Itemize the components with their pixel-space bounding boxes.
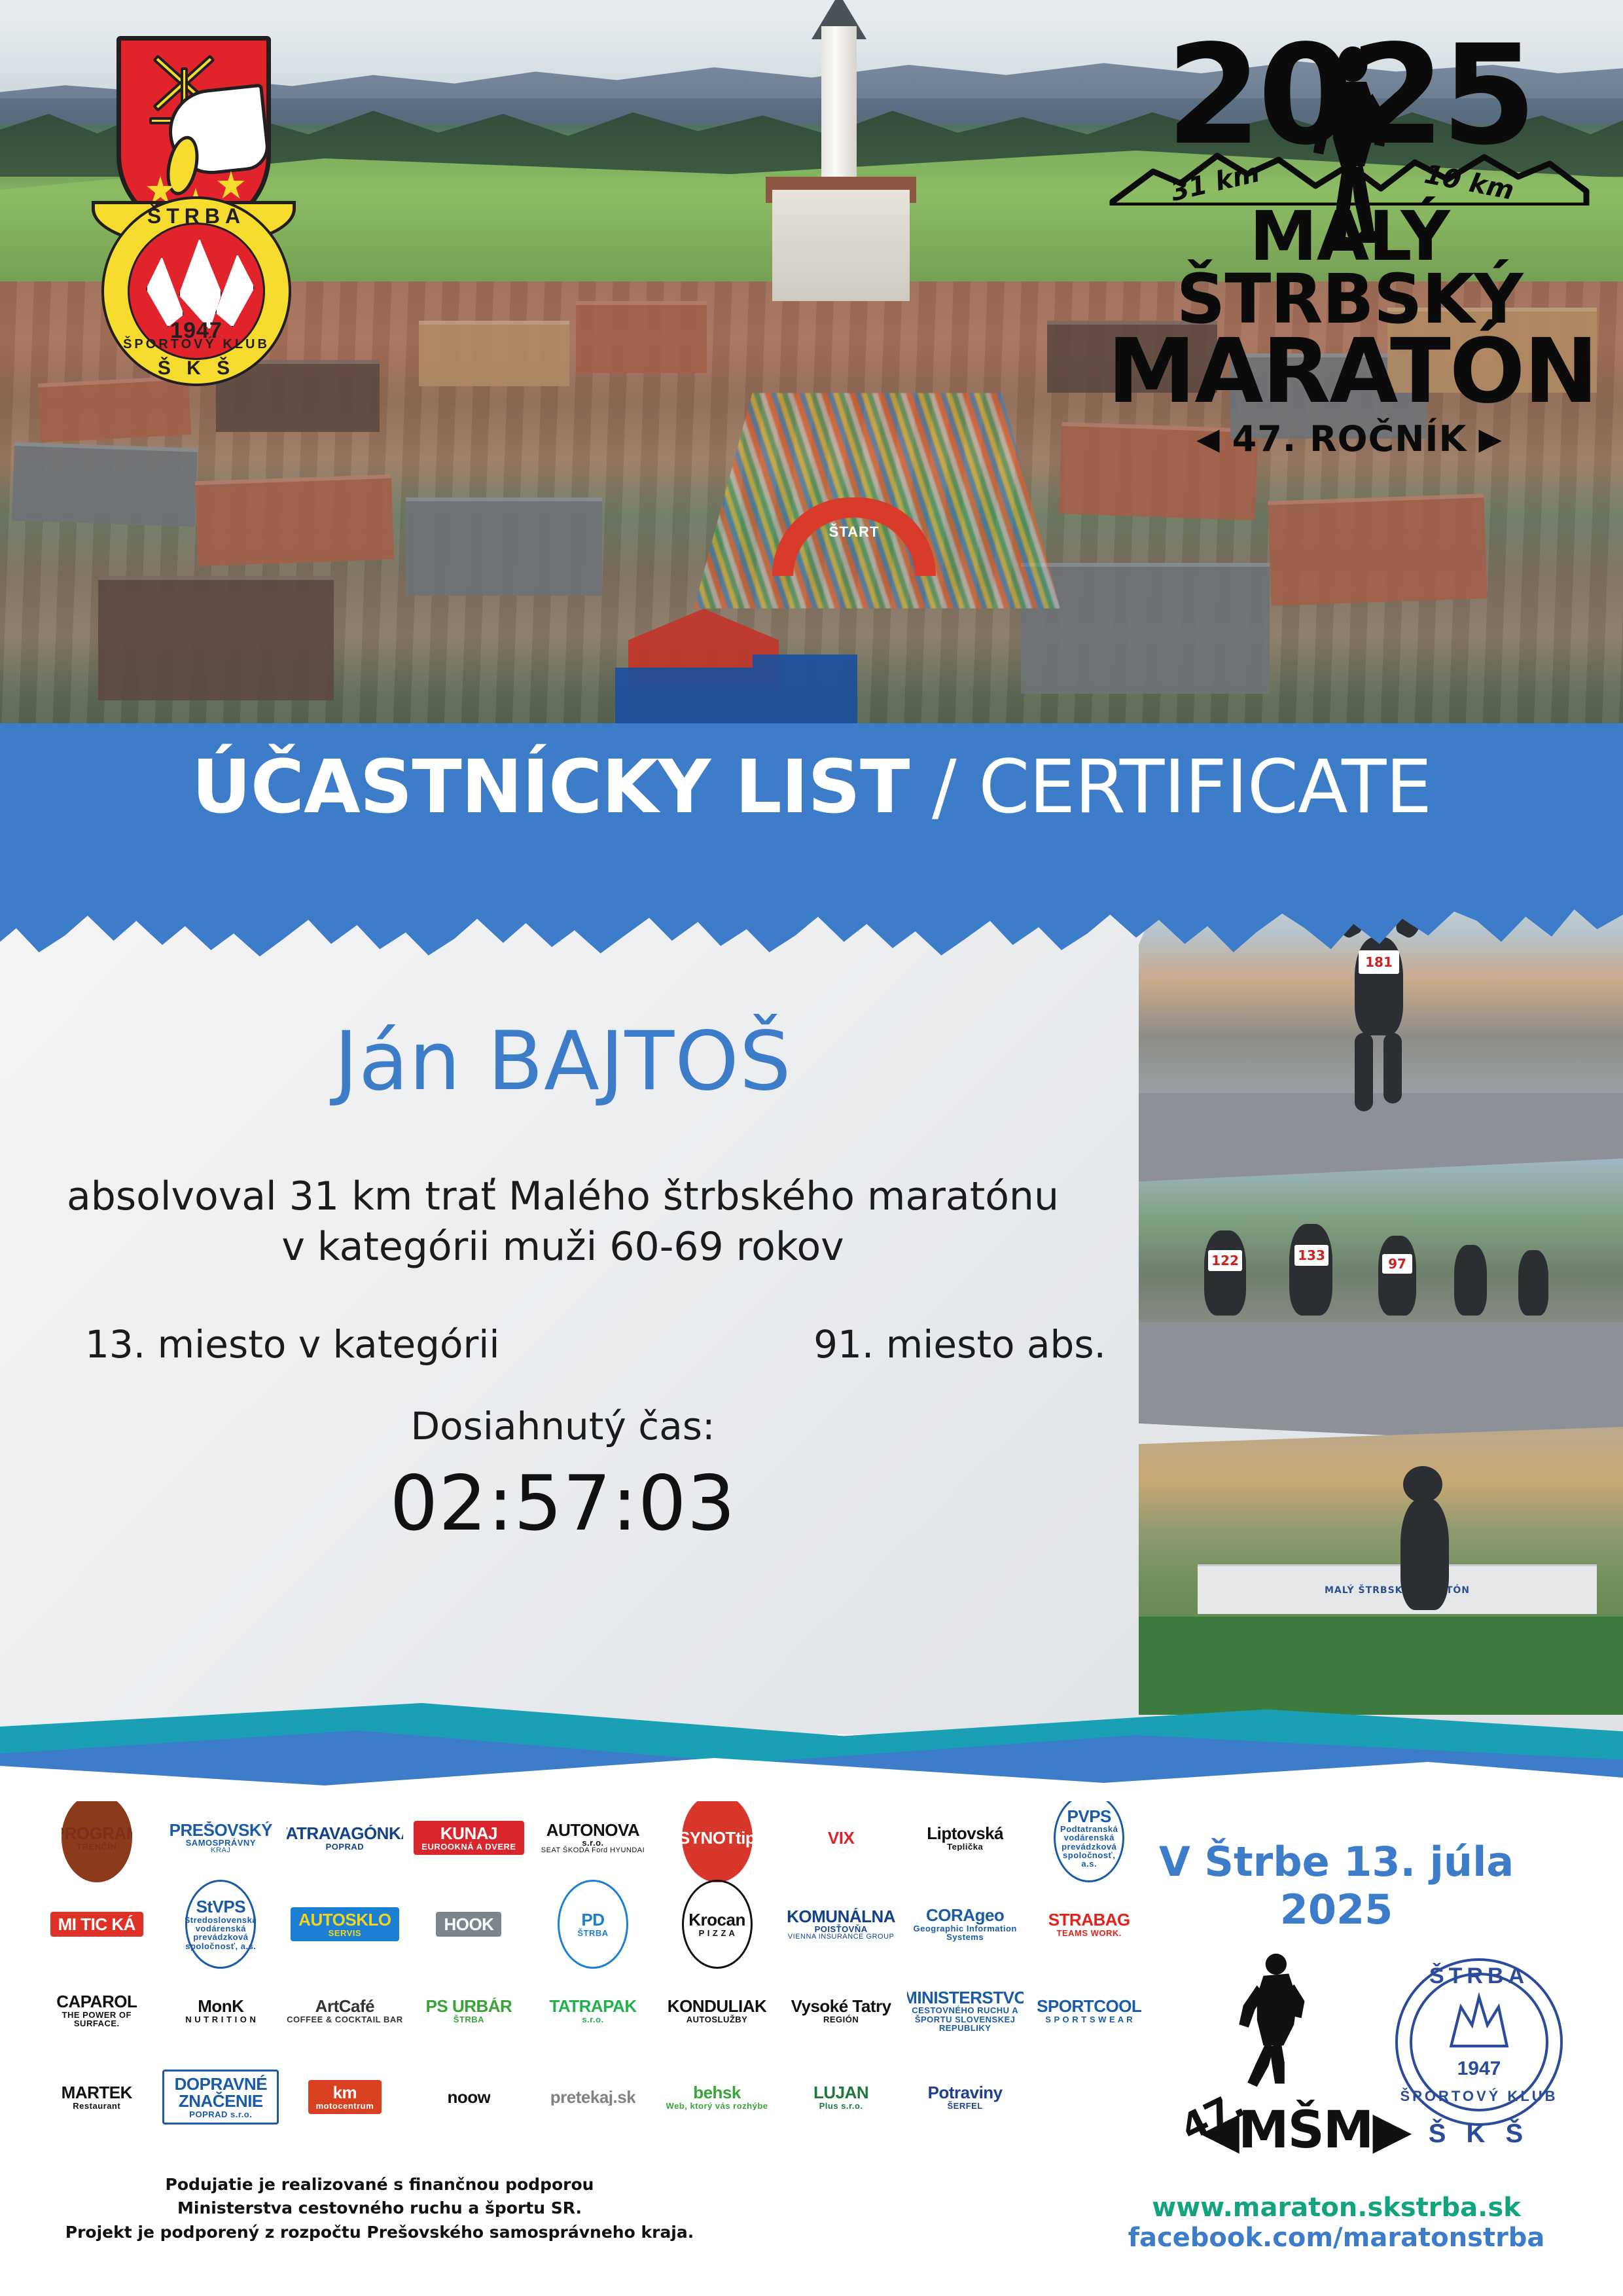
sponsor-mark: behskWeb, ktorý vás rozhýbe (666, 2084, 768, 2110)
sponsor-mark: VIX (828, 1829, 854, 1847)
start-gate-label: ŠTART (818, 524, 890, 541)
sponsor-name: PD (581, 1911, 604, 1929)
sponsor-mark: KONDULIAKAUTOSLUŽBY (668, 1998, 767, 2024)
sponsor-extra: VIENNA INSURANCE GROUP (787, 1933, 895, 1941)
sponsor-logo: KrocanP I Z Z A (682, 1880, 753, 1969)
sponsor-logo: MI TIC KÁ (50, 1912, 143, 1937)
sponsor-logo: MARTEKRestaurant (62, 2084, 132, 2110)
sponsor-tagline: Plus s.r.o. (813, 2102, 868, 2110)
sponsor-mark: SYNOTtip (682, 1793, 753, 1882)
sponsor-tagline: Podtatranská vodárenská prevádzková spol… (1056, 1825, 1122, 1868)
sponsor-name: STRABAG (1048, 1911, 1130, 1929)
arrow-left-icon: ◀ (1196, 423, 1220, 454)
sponsor-name: KONDULIAK (668, 1998, 767, 2015)
sponsor-name: KUNAJ (421, 1825, 516, 1842)
rooftop (419, 321, 569, 386)
time-label: Dosiahnutý čas: (0, 1404, 1126, 1448)
sponsor-logo-grid: PROGRAMTRENČÍNPREŠOVSKÝSAMOSPRÁVNYKRAJTA… (37, 1796, 1149, 2139)
sponsor-mark: MINISTERSTVOCESTOVNÉHO RUCHU A ŠPORTU SL… (907, 1989, 1024, 2032)
participant-name: Ján BAJTOŠ (0, 1014, 1126, 1109)
sponsor-logo: PREŠOVSKÝSAMOSPRÁVNYKRAJ (169, 1821, 272, 1855)
sponsor-name: KOMUNÁLNA (787, 1908, 895, 1926)
sponsor-tagline: REGIÓN (791, 2015, 891, 2024)
runner-body (1289, 1224, 1332, 1316)
photo-collage: 181 122 133 97 MALÝ ŠTRBSKÝ MARATÓN (1139, 877, 1623, 1715)
sponsor-name: MARTEK (62, 2084, 132, 2102)
sponsor-name: Vysoké Tatry (791, 1998, 891, 2015)
contact-links: www.maraton.skstrba.sk facebook.com/mara… (1101, 2193, 1572, 2253)
photo-group-runners: 122 133 97 (1139, 1158, 1623, 1446)
runner-leg (1383, 1033, 1402, 1103)
funding-note-line-3: Projekt je podporený z rozpočtu Prešovsk… (52, 2221, 707, 2244)
rooftop (98, 576, 334, 700)
sponsor-mark: MonKN U T R I T I O N (185, 1998, 256, 2024)
sponsor-tagline: Stredoslovenská vodárenská prevádzková s… (185, 1916, 256, 1950)
sponsor-logo: KOMUNÁLNAPOISŤOVŇAVIENNA INSURANCE GROUP (787, 1908, 895, 1941)
sponsor-name: CORAgeo (907, 1907, 1024, 1924)
sponsor-tagline: Web, ktorý vás rozhýbe (666, 2102, 768, 2110)
rooftop (12, 442, 198, 527)
sponsor-logo: PS URBÁRŠTRBA (426, 1998, 512, 2024)
sponsor-name: HOOK (444, 1916, 493, 1933)
sponsor-mark: LiptovskáTeplička (927, 1825, 1003, 1851)
sponsor-logo: SYNOTtip (682, 1793, 753, 1882)
msm-logo: 47. ◀MŠM▶ (1178, 1944, 1348, 2160)
sponsor-mark: MI TIC KÁ (50, 1912, 143, 1937)
website-link[interactable]: www.maraton.skstrba.sk (1101, 2193, 1572, 2223)
finish-banner: MALÝ ŠTRBSKÝ MARATÓN (1198, 1564, 1597, 1614)
sponsor-extra: SEAT ŠKODA Ford HYUNDAI (541, 1847, 645, 1854)
sponsor-tagline: Teplička (927, 1842, 1003, 1851)
sponsor-name: LUJAN (813, 2084, 868, 2102)
sponsor-mark: KOMUNÁLNAPOISŤOVŇAVIENNA INSURANCE GROUP (787, 1908, 895, 1941)
sponsor-name: PS URBÁR (426, 1998, 512, 2015)
sponsor-mark: noow (448, 2089, 491, 2106)
msm-abbreviation: ◀MŠM▶ (1200, 2101, 1410, 2160)
sponsor-mark: AUTOSKLOSERVIS (291, 1907, 399, 1941)
sponsor-name: AUTONOVA (541, 1821, 645, 1839)
sponsor-logo: pretekaj.sk (550, 2089, 635, 2106)
sponsor-logo: noow (448, 2089, 491, 2106)
rooftop (195, 475, 394, 566)
sponsor-name: Liptovská (927, 1825, 1003, 1842)
sponsor-mark: pretekaj.sk (550, 2089, 635, 2106)
runner-body (1378, 1236, 1416, 1316)
sponsor-logo: DOPRAVNÉ ZNAČENIEPOPRAD s.r.o. (162, 2070, 279, 2125)
sponsor-name: MonK (185, 1998, 256, 2015)
sponsor-name: CAPAROL (39, 1993, 155, 2011)
sponsor-tagline: s.r.o. (549, 2015, 636, 2024)
sponsor-mark: CORAgeoGeographic Information Systems (907, 1907, 1024, 1941)
runner-body (1400, 1499, 1449, 1610)
sponsor-mark: KrocanP I Z Z A (682, 1880, 753, 1969)
sponsor-logo: ArtCaféCOFFEE & COCKTAIL BAR (287, 1998, 403, 2024)
sks-stamp-bottom-label: Š K Š (1381, 2119, 1577, 2149)
sks-stamp-year: 1947 (1381, 2058, 1577, 2080)
sponsor-name: DOPRAVNÉ ZNAČENIE (172, 2075, 269, 2110)
sponsor-logo: TATRAPAKs.r.o. (549, 1998, 636, 2024)
sponsor-logo: VIX (828, 1829, 854, 1847)
sponsor-tagline: SAMOSPRÁVNY (169, 1839, 272, 1847)
sks-mountain-icon (1437, 1982, 1521, 2066)
footer: V Štrbe 13. júla 2025 PROGRAMTRENČÍNPREŠ… (0, 1774, 1623, 2296)
event-edition-row: ◀ 47. ROČNÍK ▶ (1107, 418, 1592, 459)
issue-date: V Štrbe 13. júla 2025 (1101, 1838, 1572, 1933)
sponsor-logo: TATRAVAGÓNKAPOPRAD (287, 1825, 403, 1851)
sponsor-tagline: COFFEE & COCKTAIL BAR (287, 2015, 403, 2024)
sponsor-logo: STRABAGTEAMS WORK. (1048, 1911, 1130, 1937)
sponsor-logo: PROGRAMTRENČÍN (62, 1793, 132, 1882)
sponsor-mark: PDŠTRBA (558, 1880, 628, 1969)
description-line-2: v kategórii muži 60-69 rokov (0, 1222, 1126, 1272)
sponsor-logo: LiptovskáTeplička (927, 1825, 1003, 1851)
placement-row: 13. miesto v kategórii 91. miesto abs. (85, 1322, 1106, 1367)
sponsor-name: km (316, 2084, 374, 2102)
sponsor-name: TATRAPAK (549, 1998, 636, 2015)
sponsor-logo: PVPSPodtatranská vodárenská prevádzková … (1054, 1793, 1124, 1882)
sponsor-mark: PROGRAMTRENČÍN (62, 1793, 132, 1882)
runner-body (1204, 1230, 1246, 1316)
sks-logo-middle-label: ŠPORTOVÝ KLUB (104, 337, 289, 352)
sponsor-mark: Vysoké TatryREGIÓN (791, 1998, 891, 2024)
sponsor-tagline: Geographic Information Systems (907, 1924, 1024, 1942)
sks-club-logo: ŠTRBA 1947 ŠPORTOVÝ KLUB Š K Š (101, 196, 291, 386)
sks-stamp-middle-label: ŠPORTOVÝ KLUB (1381, 2088, 1577, 2105)
sponsor-tagline: THE POWER OF SURFACE. (39, 2011, 155, 2028)
sponsor-name: pretekaj.sk (550, 2089, 635, 2106)
sponsor-mark: PREŠOVSKÝSAMOSPRÁVNYKRAJ (169, 1821, 272, 1855)
sponsor-logo: kmmotocentrum (308, 2080, 382, 2114)
sponsor-tagline: motocentrum (316, 2102, 374, 2110)
runner-body (1518, 1250, 1548, 1316)
event-title-block: 2025 31 km 10 km MALÝ ŠTRBSKÝ MARATÓN ◀ (1107, 39, 1592, 609)
sponsor-mark: KUNAJEUROOKNÁ A DVERE (414, 1821, 524, 1855)
sponsor-mark: TATRAVAGÓNKAPOPRAD (287, 1825, 403, 1851)
sponsor-tagline: CESTOVNÉHO RUCHU A ŠPORTU SLOVENSKEJ REP… (907, 2006, 1024, 2032)
sponsor-name: behsk (666, 2084, 768, 2102)
sponsor-logo: KONDULIAKAUTOSLUŽBY (668, 1998, 767, 2024)
sks-stamp-logo: ŠTRBA 1947 ŠPORTOVÝ KLUB Š K Š (1381, 1941, 1577, 2157)
certificate-title-separator: / (909, 745, 978, 830)
sponsor-name: TATRAVAGÓNKA (287, 1825, 403, 1842)
rooftop (38, 376, 191, 442)
funding-note-line-1: Podujatie je realizované s finančnou pod… (52, 2173, 707, 2197)
race-bib: 133 (1294, 1245, 1329, 1266)
church-body (772, 190, 910, 301)
event-title-line2: MARATÓN (1107, 331, 1592, 413)
sponsor-logo: SPORTCOOLS P O R T S W E A R (1037, 1998, 1141, 2024)
msm-runner-icon (1204, 1944, 1342, 2094)
sks-logo-bottom-label: Š K Š (104, 357, 289, 380)
sponsor-logo: StVPSStredoslovenská vodárenská prevádzk… (185, 1880, 256, 1969)
runner-head (1403, 1466, 1442, 1503)
sponsor-logo: MonKN U T R I T I O N (185, 1998, 256, 2024)
race-bib: 97 (1382, 1254, 1412, 1274)
sponsor-tagline: S P O R T S W E A R (1037, 2015, 1141, 2024)
sponsor-mark: STRABAGTEAMS WORK. (1048, 1911, 1130, 1937)
race-bib: 122 (1208, 1250, 1242, 1271)
sponsor-tagline: EUROOKNÁ A DVERE (421, 1842, 516, 1851)
sponsor-logo: PDŠTRBA (558, 1880, 628, 1969)
sponsor-name: StVPS (196, 1898, 246, 1916)
sponsor-name: Krocan (688, 1911, 745, 1929)
sponsor-logo: behskWeb, ktorý vás rozhýbe (666, 2084, 768, 2110)
sponsor-mark: LUJANPlus s.r.o. (813, 2084, 868, 2110)
sponsor-tagline: ŠTRBA (577, 1929, 608, 1937)
sponsor-mark: SPORTCOOLS P O R T S W E A R (1037, 1998, 1141, 2024)
sponsor-mark: TATRAPAKs.r.o. (549, 1998, 636, 2024)
wave-divider (0, 1695, 1623, 1800)
description-line-1: absolvoval 31 km trať Malého štrbského m… (0, 1172, 1126, 1222)
certificate-title-sk: ÚČASTNÍCKY LIST (192, 745, 909, 830)
rooftop (576, 301, 707, 373)
photo-finish-line: MALÝ ŠTRBSKÝ MARATÓN (1139, 1427, 1623, 1715)
finish-time: 02:57:03 (0, 1460, 1126, 1548)
sponsor-logo: LUJANPlus s.r.o. (813, 2084, 868, 2110)
sponsor-mark: PotravinyŠERFEL (928, 2084, 1003, 2110)
sponsor-logo: CORAgeoGeographic Information Systems (907, 1907, 1024, 1941)
sponsor-logo: KUNAJEUROOKNÁ A DVERE (414, 1821, 524, 1855)
place-absolute: 91. miesto abs. (813, 1322, 1106, 1367)
sponsor-logo: CAPAROLTHE POWER OF SURFACE. (39, 1993, 155, 2028)
sponsor-mark: ArtCaféCOFFEE & COCKTAIL BAR (287, 1998, 403, 2024)
sponsor-tagline: SERVIS (298, 1929, 391, 1937)
sks-stamp-top-label: ŠTRBA (1381, 1964, 1577, 1989)
sponsor-mark: PS URBÁRŠTRBA (426, 1998, 512, 2024)
sponsor-name: VIX (828, 1829, 854, 1847)
sponsor-logo: Vysoké TatryREGIÓN (791, 1998, 891, 2024)
sponsor-tagline: POISŤOVŇA (787, 1925, 895, 1933)
sponsor-tagline: ŠERFEL (928, 2102, 1003, 2110)
sponsor-tagline: N U T R I T I O N (185, 2015, 256, 2024)
sponsor-name: PREŠOVSKÝ (169, 1821, 272, 1839)
sponsor-name: ArtCafé (287, 1998, 403, 2015)
sponsor-tagline: Restaurant (62, 2102, 132, 2110)
sponsor-mark: StVPSStredoslovenská vodárenská prevádzk… (185, 1880, 256, 1969)
event-edition-label: 47. ROČNÍK (1232, 418, 1467, 459)
sponsor-logo: PotravinyŠERFEL (928, 2084, 1003, 2110)
sponsor-name: AUTOSKLO (298, 1911, 391, 1929)
sponsor-mark: HOOK (436, 1912, 501, 1937)
sponsor-mark: CAPAROLTHE POWER OF SURFACE. (39, 1993, 155, 2028)
sponsor-logo: AUTONOVAs.r.o.SEAT ŠKODA Ford HYUNDAI (541, 1821, 645, 1855)
place-category: 13. miesto v kategórii (85, 1322, 500, 1367)
road-surface (1139, 1322, 1623, 1446)
sponsor-mark: AUTONOVAs.r.o.SEAT ŠKODA Ford HYUNDAI (541, 1821, 645, 1855)
sponsor-name: PROGRAM (62, 1825, 132, 1842)
sponsor-mark: MARTEKRestaurant (62, 2084, 132, 2110)
sponsor-extra: KRAJ (169, 1847, 272, 1854)
funding-note-line-2: Ministerstva cestovného ruchu a športu S… (52, 2197, 707, 2220)
sponsor-mark: DOPRAVNÉ ZNAČENIEPOPRAD s.r.o. (162, 2070, 279, 2125)
sponsor-tagline: ŠTRBA (426, 2015, 512, 2024)
runner-body (1454, 1245, 1487, 1316)
certificate-title-band: ÚČASTNÍCKY LIST / CERTIFICATE (0, 723, 1623, 906)
sponsor-tagline: AUTOSLUŽBY (668, 2015, 767, 2024)
sponsor-mark: PVPSPodtatranská vodárenská prevádzková … (1054, 1793, 1124, 1882)
sponsor-logo: HOOK (436, 1912, 501, 1937)
certificate-description: absolvoval 31 km trať Malého štrbského m… (0, 1172, 1126, 1272)
sponsor-name: PVPS (1067, 1808, 1111, 1825)
sponsor-logo: MINISTERSTVOCESTOVNÉHO RUCHU A ŠPORTU SL… (907, 1989, 1024, 2032)
race-bib: 181 (1359, 950, 1399, 974)
sponsor-name: MI TIC KÁ (58, 1916, 135, 1933)
sponsor-name: Potraviny (928, 2084, 1003, 2102)
facebook-link[interactable]: facebook.com/maratonstrba (1101, 2223, 1572, 2253)
hero-photo-banner: ŠTART ŠTRBA ŠTRBA 1947 ŠPORTOVÝ KLUB Š K… (0, 0, 1623, 772)
sponsor-name: SYNOTtip (682, 1829, 753, 1847)
sponsor-tagline: POPRAD s.r.o. (172, 2110, 269, 2119)
sponsor-tagline: P I Z Z A (699, 1929, 736, 1937)
arrow-right-icon: ▶ (1478, 423, 1502, 454)
rooftop (406, 497, 602, 596)
runner-silhouette-icon (1304, 45, 1402, 260)
sponsor-name: noow (448, 2089, 491, 2106)
event-tent (753, 655, 857, 726)
sponsor-mark: kmmotocentrum (308, 2080, 382, 2114)
certificate-title: ÚČASTNÍCKY LIST / CERTIFICATE (0, 751, 1623, 824)
sponsor-name: MINISTERSTVO (907, 1989, 1024, 2007)
sponsor-tagline: TEAMS WORK. (1048, 1929, 1130, 1937)
sponsor-tagline: TRENČÍN (77, 1842, 116, 1851)
runner-leg (1355, 1033, 1373, 1111)
sponsor-name: SPORTCOOL (1037, 1998, 1141, 2015)
certificate-title-en: CERTIFICATE (978, 745, 1431, 830)
sponsor-tagline: POPRAD (287, 1842, 403, 1851)
sponsor-logo: AUTOSKLOSERVIS (291, 1907, 399, 1941)
funding-note: Podujatie je realizované s finančnou pod… (52, 2173, 707, 2244)
